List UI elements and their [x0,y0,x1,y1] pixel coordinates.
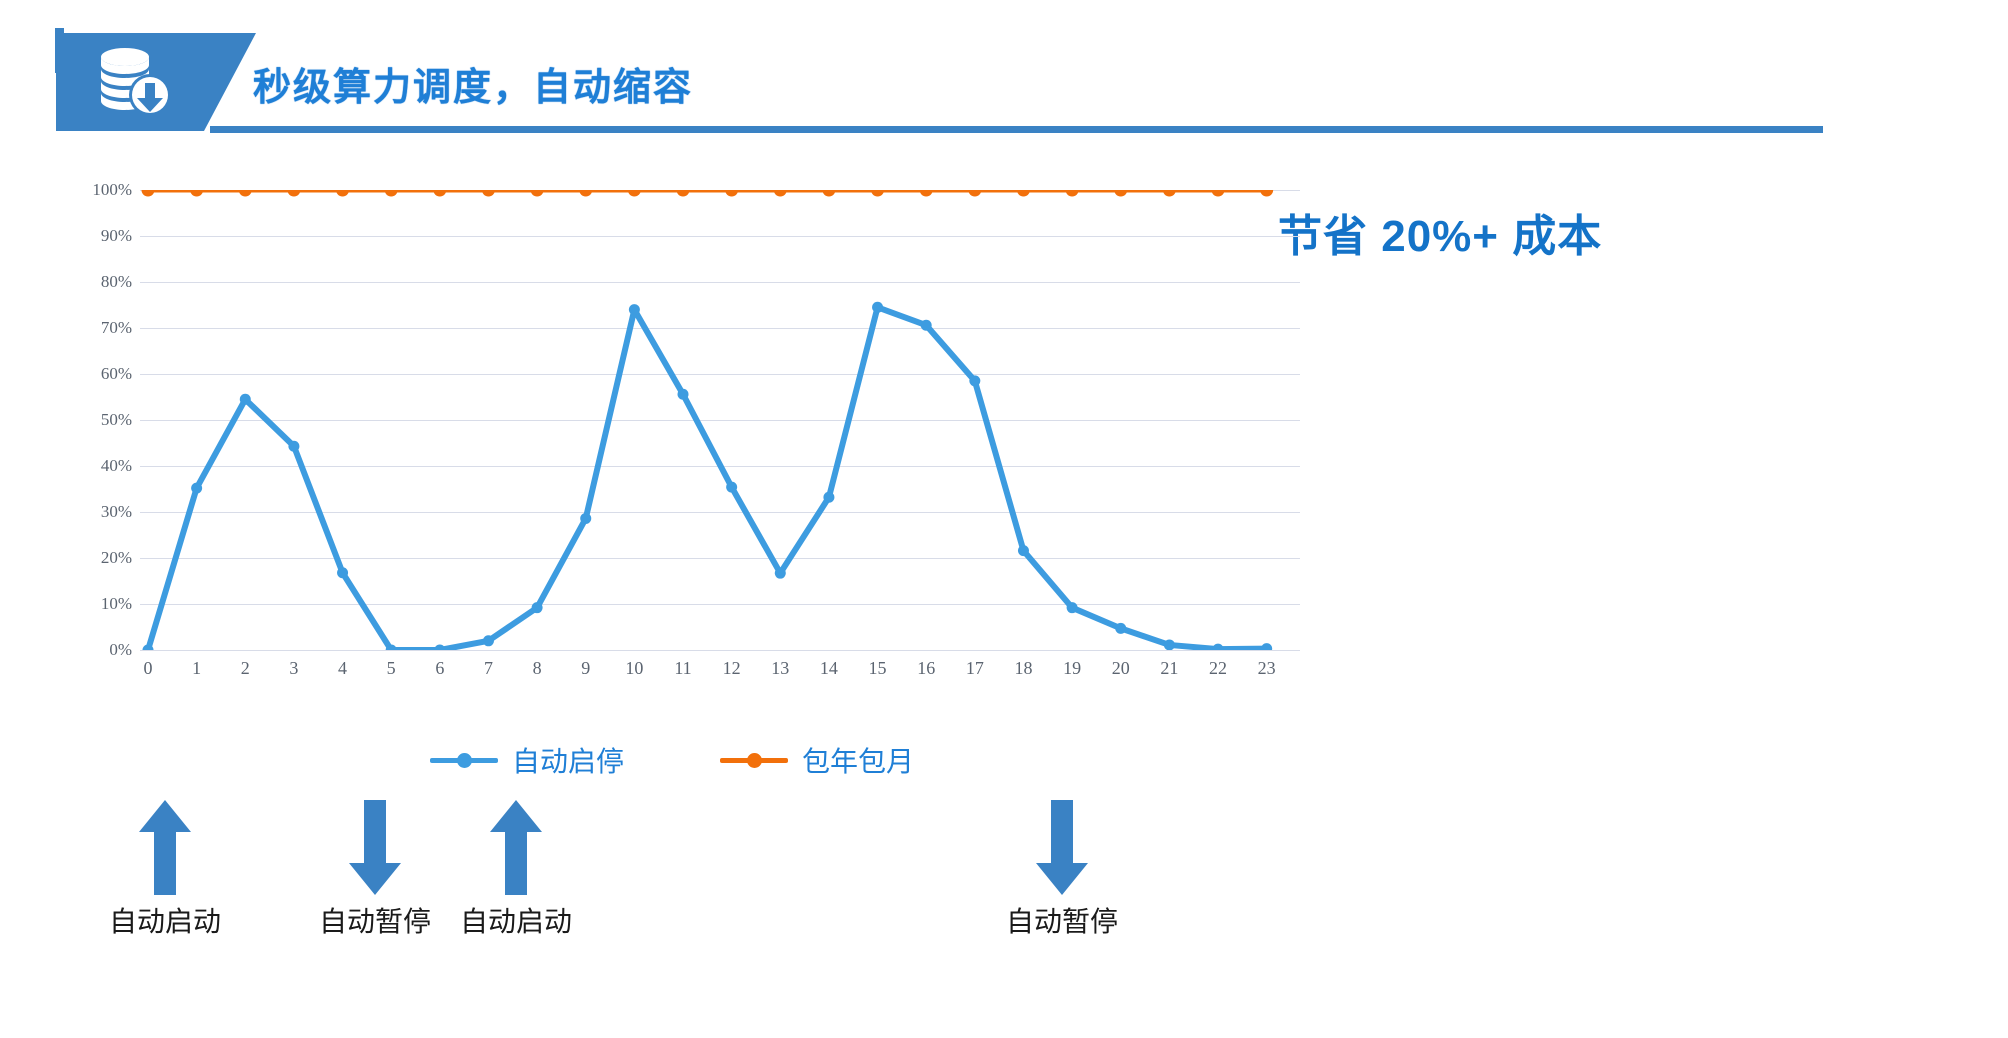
y-tick-label: 40% [80,456,132,476]
legend-item-1[interactable]: 自动启停 [430,740,624,780]
chart-legend: 自动启停包年包月 [430,740,914,780]
y-tick-label: 100% [80,180,132,200]
plot-area [140,190,1300,650]
y-tick-label: 80% [80,272,132,292]
data-point [871,190,884,197]
x-tick-label: 8 [517,658,557,679]
data-point [385,190,398,197]
data-point [1114,190,1127,197]
data-point [434,645,445,651]
x-tick-label: 9 [566,658,606,679]
data-point [726,482,737,493]
data-point [774,190,787,197]
x-tick-label: 21 [1149,658,1189,679]
data-point [678,389,689,400]
x-tick-label: 5 [371,658,411,679]
x-tick-label: 14 [809,658,849,679]
data-point [531,190,544,197]
data-point [822,190,835,197]
y-tick-label: 60% [80,364,132,384]
x-tick-label: 3 [274,658,314,679]
data-point [532,602,543,613]
data-point [579,190,592,197]
x-tick-label: 12 [712,658,752,679]
data-point [433,190,446,197]
x-tick-label: 4 [323,658,363,679]
y-tick-label: 70% [80,318,132,338]
data-point [1017,190,1030,197]
page-header: 秒级算力调度，自动缩容 [0,0,2008,145]
data-point [775,568,786,579]
annotation-label: 自动暂停 [319,900,431,940]
data-point [1260,190,1273,197]
coin-stack-down-arrow-icon [95,45,175,119]
data-point [725,190,738,197]
data-point [1163,190,1176,197]
data-point [1212,190,1225,197]
gridline [140,650,1300,651]
x-tick-label: 18 [1003,658,1043,679]
x-tick-label: 19 [1052,658,1092,679]
arrow-down-icon [349,800,401,895]
data-point [337,567,348,578]
data-point [240,394,251,405]
legend-label: 包年包月 [802,740,914,780]
legend-marker-icon [720,752,788,768]
y-tick-label: 50% [80,410,132,430]
data-point [968,190,981,197]
x-tick-label: 7 [468,658,508,679]
x-axis-labels: 01234567891011121314151617181920212223 [140,658,1300,690]
y-tick-label: 90% [80,226,132,246]
y-tick-label: 30% [80,502,132,522]
x-tick-label: 0 [128,658,168,679]
arrow-up-icon [139,800,191,895]
plot-svg [140,190,1300,650]
x-tick-label: 6 [420,658,460,679]
data-point [1164,639,1175,650]
series-line-1 [148,307,1267,650]
data-point [190,190,203,197]
data-point [1066,190,1079,197]
x-tick-label: 13 [760,658,800,679]
data-point [288,441,299,452]
data-point [482,190,495,197]
x-tick-label: 10 [614,658,654,679]
annotation-label: 自动启动 [460,900,572,940]
annotation-label: 自动启动 [109,900,221,940]
data-point [1018,545,1029,556]
page-title: 秒级算力调度，自动缩容 [253,56,693,111]
x-tick-label: 22 [1198,658,1238,679]
legend-item-2[interactable]: 包年包月 [720,740,914,780]
data-point [1067,602,1078,613]
x-tick-label: 15 [858,658,898,679]
data-point [969,375,980,386]
annotation-label: 自动暂停 [1006,900,1118,940]
data-point [872,302,883,313]
data-point [483,635,494,646]
x-tick-label: 20 [1101,658,1141,679]
arrow-down-icon [1036,800,1088,895]
data-point [239,190,252,197]
savings-callout: 节省 20%+ 成本 [1278,200,1602,264]
arrow-up-icon [490,800,542,895]
data-point [336,190,349,197]
y-axis-labels: 0%10%20%30%40%50%60%70%80%90%100% [60,190,132,650]
data-point [142,190,155,197]
data-point [1261,643,1272,650]
data-point [921,320,932,331]
x-tick-label: 11 [663,658,703,679]
legend-label: 自动启停 [512,740,624,780]
data-point [1115,623,1126,634]
y-tick-label: 20% [80,548,132,568]
data-point [287,190,300,197]
x-tick-label: 23 [1247,658,1287,679]
data-point [580,513,591,524]
y-tick-label: 0% [80,640,132,660]
data-point [629,304,640,315]
data-point [677,190,690,197]
header-divider [210,126,1823,133]
x-tick-label: 17 [955,658,995,679]
legend-marker-icon [430,752,498,768]
x-tick-label: 1 [177,658,217,679]
x-tick-label: 2 [225,658,265,679]
x-tick-label: 16 [906,658,946,679]
data-point [191,483,202,494]
data-point [920,190,933,197]
data-point [823,492,834,503]
data-point [628,190,641,197]
data-point [1213,644,1224,650]
y-tick-label: 10% [80,594,132,614]
utilization-line-chart: 0%10%20%30%40%50%60%70%80%90%100% 012345… [60,190,1290,770]
